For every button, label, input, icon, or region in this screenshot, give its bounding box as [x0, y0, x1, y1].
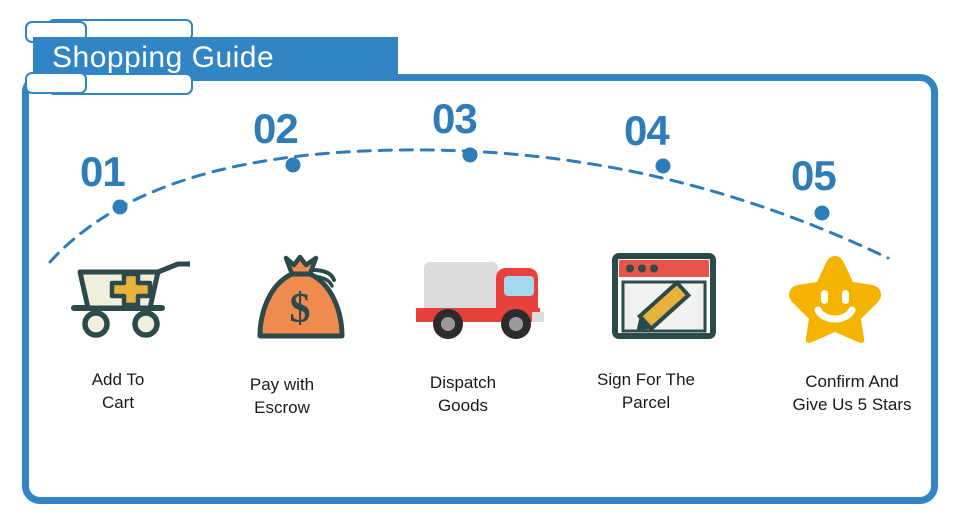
step-caption-5: Confirm And Give Us 5 Stars	[762, 370, 942, 416]
svg-text:$: $	[290, 286, 311, 332]
step-caption-2: Pay with Escrow	[222, 373, 342, 419]
step-caption-4: Sign For The Parcel	[570, 368, 722, 414]
money-bag-icon: $	[252, 250, 348, 344]
shopping-cart-icon	[66, 252, 190, 344]
step-number-4: 04	[624, 107, 669, 155]
header-ribbon: Shopping Guide	[0, 0, 440, 110]
sign-document-icon	[611, 252, 717, 340]
step-caption-3: Dispatch Goods	[403, 371, 523, 417]
step-caption-1: Add To Cart	[58, 368, 178, 414]
smiling-star-icon	[786, 252, 884, 344]
infographic-canvas: Shopping Guide 01 02 03 04 05 $	[0, 0, 960, 529]
delivery-truck-icon	[412, 256, 546, 342]
page-title: Shopping Guide	[52, 38, 392, 78]
step-number-1: 01	[80, 148, 125, 196]
step-number-2: 02	[253, 105, 298, 153]
step-number-5: 05	[791, 152, 836, 200]
step-number-3: 03	[432, 95, 477, 143]
